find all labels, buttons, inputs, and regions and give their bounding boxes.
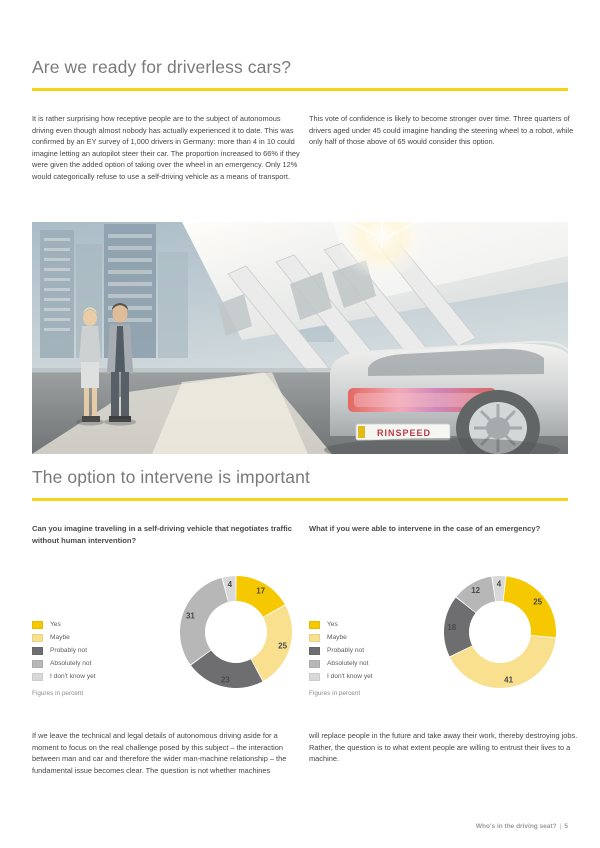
intro-paragraph-left: It is rather surprising how receptive pe… <box>32 113 304 183</box>
intro-paragraph-right: This vote of confidence is likely to bec… <box>309 113 581 148</box>
legend-item-maybe: Maybe <box>32 631 96 644</box>
legend-label-probably-not: Probably not <box>50 647 87 654</box>
section-title-option-to-intervene: The option to intervene is important <box>32 467 310 488</box>
legend-swatch-probably-not <box>32 647 43 655</box>
legend-label-probably-not-2: Probably not <box>327 647 364 654</box>
chart-note-1: Figures in percent <box>32 690 83 697</box>
legend-swatch-absolutely-not <box>32 660 43 668</box>
hero-photo-driverless-car: RINSPEED <box>32 222 568 454</box>
donut-slice <box>180 578 228 665</box>
legend-swatch-absolutely-not-2 <box>309 660 320 668</box>
footer-page-number: 5 <box>564 823 568 830</box>
legend-swatch-yes-2 <box>309 621 320 629</box>
donut-slice-value: 18 <box>447 623 456 632</box>
closing-paragraph-left: If we leave the technical and legal deta… <box>32 730 304 776</box>
document-page: Are we ready for driverless cars? It is … <box>0 0 600 848</box>
donut-slice-value: 41 <box>504 676 513 685</box>
section-title-driverless-cars: Are we ready for driverless cars? <box>32 57 291 78</box>
legend-label-maybe: Maybe <box>50 634 70 641</box>
legend-swatch-yes <box>32 621 43 629</box>
legend-label-dont-know-2: I don't know yet <box>327 673 373 680</box>
donut-slice-value: 25 <box>278 642 287 651</box>
legend-item-dont-know-2: I don't know yet <box>309 670 373 683</box>
legend-item-maybe-2: Maybe <box>309 631 373 644</box>
legend-label-absolutely-not: Absolutely not <box>50 660 91 667</box>
donut-chart-1-svg: 172523314 <box>176 572 296 692</box>
donut-chart-2-svg: 254118124 <box>440 572 560 692</box>
legend-label-dont-know: I don't know yet <box>50 673 96 680</box>
chart-question-2: What if you were able to intervene in th… <box>309 523 577 535</box>
donut-2-slices <box>444 576 556 688</box>
page-footer: Who's in the driving seat?|5 <box>476 823 568 830</box>
donut-chart-2: 254118124 <box>440 572 560 692</box>
legend-label-yes-2: Yes <box>327 621 338 628</box>
donut-slice-value: 17 <box>256 586 265 595</box>
chart-legend-2: Yes Maybe Probably not Absolutely not I … <box>309 618 373 683</box>
chart-legend-1: Yes Maybe Probably not Absolutely not I … <box>32 618 96 683</box>
legend-item-dont-know: I don't know yet <box>32 670 96 683</box>
donut-slice-value: 31 <box>186 612 195 621</box>
accent-rule-top <box>32 88 568 91</box>
legend-item-absolutely-not-2: Absolutely not <box>309 657 373 670</box>
chart-note-2: Figures in percent <box>309 690 360 697</box>
donut-chart-1: 172523314 <box>176 572 296 692</box>
legend-swatch-dont-know <box>32 673 43 681</box>
legend-swatch-probably-not-2 <box>309 647 320 655</box>
legend-swatch-maybe-2 <box>309 634 320 642</box>
accent-rule-middle <box>32 498 568 501</box>
legend-label-maybe-2: Maybe <box>327 634 347 641</box>
donut-slice-value: 12 <box>471 586 480 595</box>
donut-slice-value: 4 <box>228 580 233 589</box>
legend-item-yes: Yes <box>32 618 96 631</box>
chart-question-1: Can you imagine traveling in a self-driv… <box>32 523 300 547</box>
legend-swatch-maybe <box>32 634 43 642</box>
legend-item-probably-not: Probably not <box>32 644 96 657</box>
closing-paragraph-right: will replace people in the future and ta… <box>309 730 581 765</box>
donut-slice <box>504 576 556 637</box>
legend-item-yes-2: Yes <box>309 618 373 631</box>
legend-label-absolutely-not-2: Absolutely not <box>327 660 368 667</box>
donut-slice-value: 23 <box>221 675 230 684</box>
donut-1-slices <box>180 576 292 688</box>
footer-document-title: Who's in the driving seat? <box>476 823 557 830</box>
photo-illustration: RINSPEED <box>32 222 568 454</box>
donut-slice-value: 4 <box>497 580 502 589</box>
legend-swatch-dont-know-2 <box>309 673 320 681</box>
legend-label-yes: Yes <box>50 621 61 628</box>
legend-item-absolutely-not: Absolutely not <box>32 657 96 670</box>
legend-item-probably-not-2: Probably not <box>309 644 373 657</box>
donut-slice-value: 25 <box>533 598 542 607</box>
